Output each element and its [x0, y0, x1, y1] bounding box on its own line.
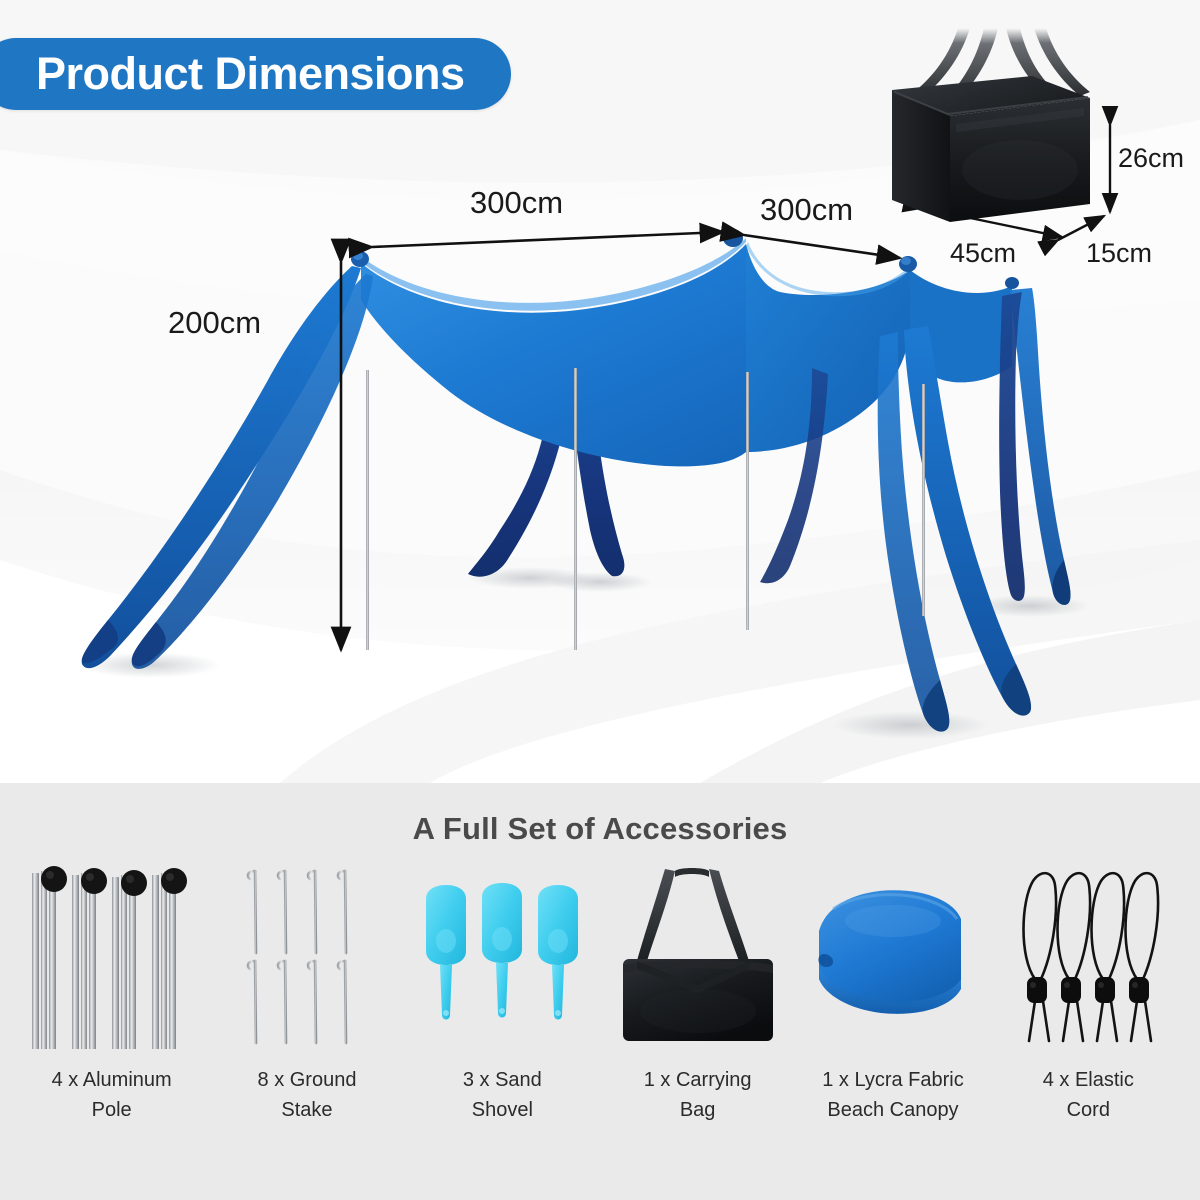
accessories-section: A Full Set of Accessories — [0, 783, 1200, 1200]
label-bag-height: 26cm — [1118, 143, 1184, 174]
label-canopy-width-right: 300cm — [760, 192, 853, 228]
page-title-badge: Product Dimensions — [0, 38, 511, 110]
arrow-canopy-width-right — [744, 235, 900, 258]
elastic-cord-icon — [991, 861, 1186, 1051]
accessory-caption: 1 x Lycra Fabric Beach Canopy — [822, 1065, 964, 1125]
accessory-caption-line1: 1 x Lycra Fabric — [822, 1069, 964, 1091]
label-bag-width: 45cm — [950, 238, 1016, 269]
arrow-canopy-width-left — [372, 232, 723, 247]
accessory-caption: 4 x Aluminum Pole — [52, 1065, 172, 1125]
aluminum-pole-icon — [14, 861, 209, 1051]
ground-stake-icon — [209, 861, 404, 1051]
accessory-caption-line1: 3 x Sand — [463, 1069, 542, 1091]
accessory-caption-line1: 4 x Aluminum — [52, 1069, 172, 1091]
label-canopy-width-left: 300cm — [470, 185, 563, 221]
accessory-caption-line2: Beach Canopy — [827, 1099, 958, 1121]
accessory-item-beach-canopy: 1 x Lycra Fabric Beach Canopy — [795, 861, 990, 1125]
carrying-bag-icon — [600, 861, 795, 1051]
accessory-caption-line1: 1 x Carrying — [644, 1069, 752, 1091]
accessory-caption: 4 x Elastic Cord — [1043, 1065, 1134, 1125]
accessory-item-aluminum-pole: 4 x Aluminum Pole — [14, 861, 209, 1125]
sand-shovel-icon — [405, 861, 600, 1051]
accessory-caption-line2: Bag — [680, 1099, 716, 1121]
accessory-caption-line2: Stake — [281, 1099, 332, 1121]
accessory-caption: 8 x Ground Stake — [258, 1065, 357, 1125]
accessories-title: A Full Set of Accessories — [0, 811, 1200, 847]
accessory-item-sand-shovel: 3 x Sand Shovel — [405, 861, 600, 1125]
accessory-item-ground-stake: 8 x Ground Stake — [209, 861, 404, 1125]
accessory-caption-line2: Shovel — [472, 1099, 533, 1121]
accessory-item-carrying-bag: 1 x Carrying Bag — [600, 861, 795, 1125]
label-bag-depth: 15cm — [1086, 238, 1152, 269]
accessories-grid: 4 x Aluminum Pole — [0, 861, 1200, 1125]
product-dimensions-infographic: Product Dimensions 300cm 300cm 200cm 26c… — [0, 0, 1200, 1200]
accessory-caption: 1 x Carrying Bag — [644, 1065, 752, 1125]
accessory-caption-line1: 4 x Elastic — [1043, 1069, 1134, 1091]
accessory-caption-line2: Pole — [92, 1099, 132, 1121]
accessory-caption: 3 x Sand Shovel — [463, 1065, 542, 1125]
accessory-caption-line2: Cord — [1067, 1099, 1110, 1121]
accessory-item-elastic-cord: 4 x Elastic Cord — [991, 861, 1186, 1125]
page-title: Product Dimensions — [36, 48, 465, 100]
hero-section: Product Dimensions 300cm 300cm 200cm 26c… — [0, 0, 1200, 783]
accessory-caption-line1: 8 x Ground — [258, 1069, 357, 1091]
label-canopy-height: 200cm — [168, 305, 261, 341]
beach-canopy-icon — [795, 861, 990, 1051]
